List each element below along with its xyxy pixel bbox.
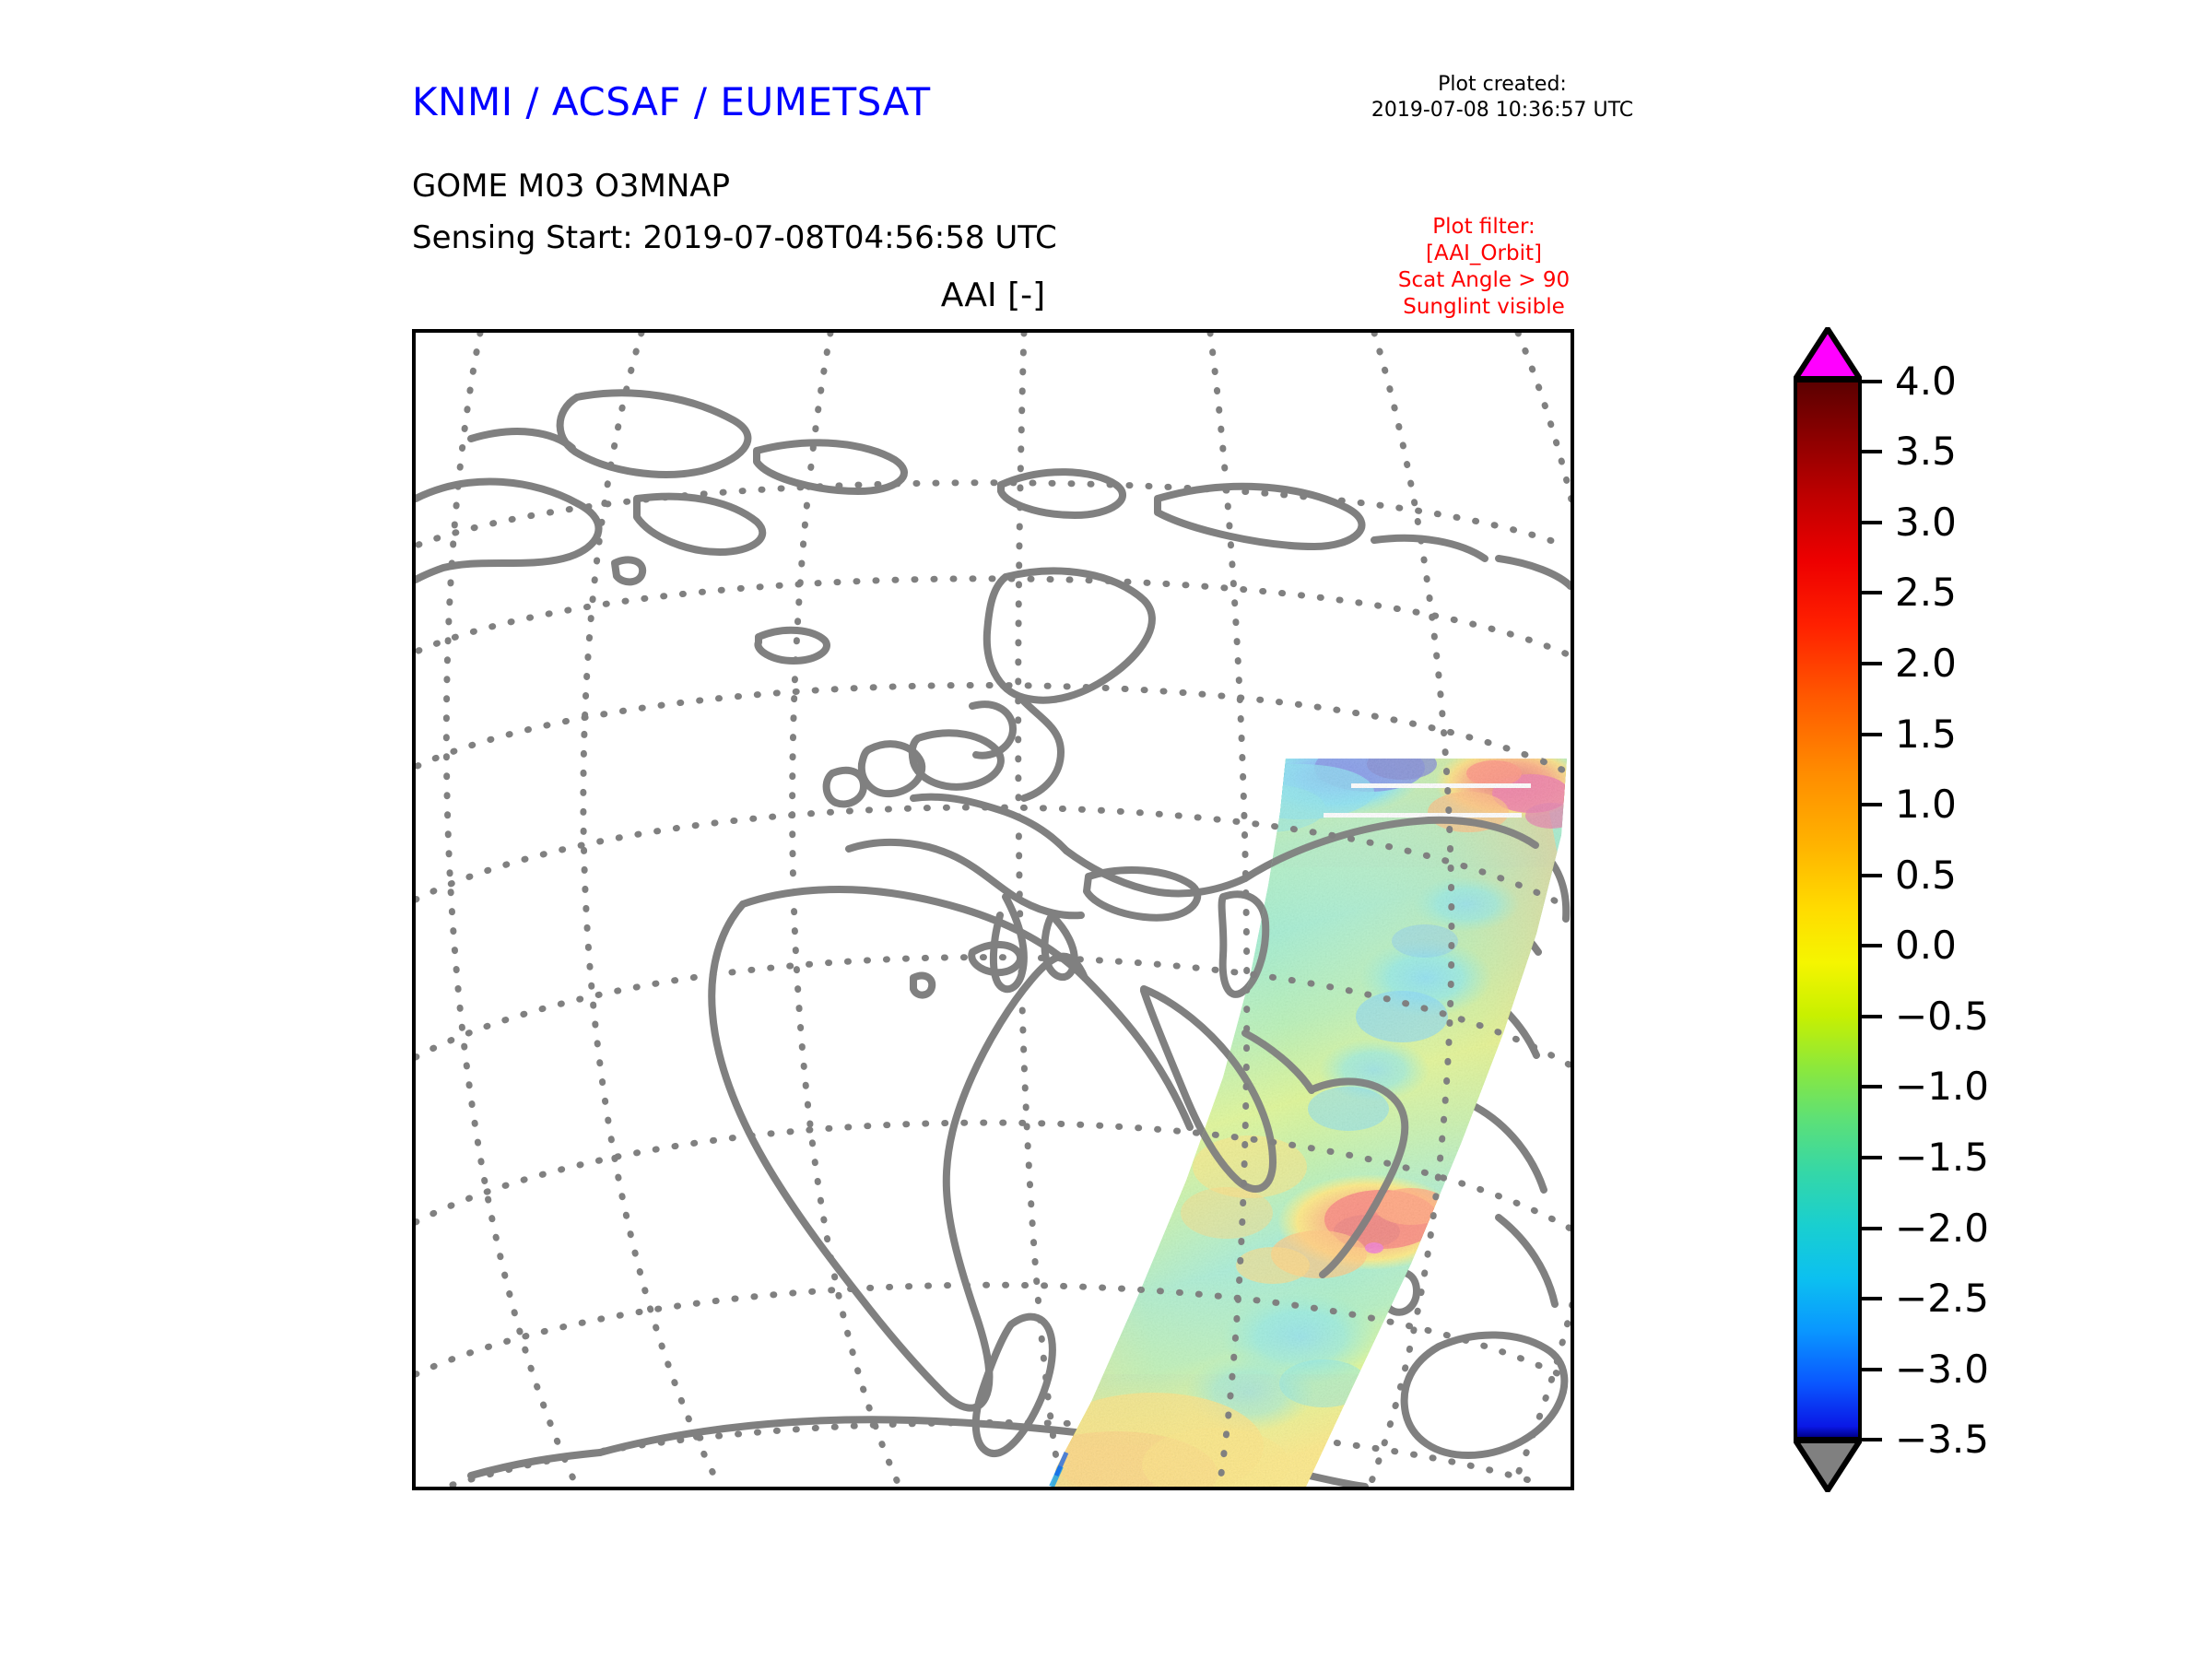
colorbar-label: 3.0 [1895, 503, 1957, 542]
organisation-title: KNMI / ACSAF / EUMETSAT [412, 79, 931, 124]
plot-created-label: Plot created: [1327, 72, 1677, 98]
colorbar-tick [1862, 1085, 1882, 1088]
chart-title: AAI [-] [412, 276, 1574, 314]
colorbar-tick [1862, 591, 1882, 594]
colorbar-label: 1.5 [1895, 715, 1957, 754]
colorbar-tick [1862, 733, 1882, 736]
map-canvas [416, 333, 1571, 1487]
colorbar-tick [1862, 662, 1882, 665]
colorbar-label: 3.5 [1895, 432, 1957, 471]
colorbar-label: −1.0 [1895, 1067, 1989, 1106]
plot-filter-label: Plot filter: [1364, 214, 1604, 241]
colorbar-tick [1862, 944, 1882, 947]
plot-created-block: Plot created: 2019-07-08 10:36:57 UTC [1327, 72, 1677, 124]
colorbar-label: −0.5 [1895, 997, 1989, 1036]
colorbar-label: −2.5 [1895, 1279, 1989, 1318]
colorbar-label: 4.0 [1895, 362, 1957, 401]
colorbar: 4.0 3.5 3.0 2.5 2.0 1.5 1.0 0.5 0.0 −0.5… [1794, 327, 2190, 1502]
colorbar-gradient [1794, 379, 1862, 1441]
plot-created-timestamp: 2019-07-08 10:36:57 UTC [1327, 98, 1677, 124]
plot-filter-name: [AAI_Orbit] [1364, 241, 1604, 267]
colorbar-label: 0.5 [1895, 856, 1957, 895]
colorbar-tick [1862, 803, 1882, 806]
colorbar-tick [1862, 1015, 1882, 1018]
colorbar-label: 0.0 [1895, 926, 1957, 965]
colorbar-tick [1862, 1227, 1882, 1230]
colorbar-tick [1862, 1156, 1882, 1159]
map-plot-area [412, 329, 1574, 1490]
colorbar-over-range-arrow [1794, 327, 1862, 381]
colorbar-label: 2.0 [1895, 644, 1957, 683]
sensing-start-label: Sensing Start: 2019-07-08T04:56:58 UTC [412, 219, 1057, 256]
colorbar-label: −3.0 [1895, 1350, 1989, 1389]
colorbar-label: 1.0 [1895, 785, 1957, 824]
product-title: GOME M03 O3MNAP [412, 168, 730, 205]
colorbar-tick [1862, 1368, 1882, 1371]
colorbar-label: 2.5 [1895, 573, 1957, 612]
colorbar-tick [1862, 450, 1882, 453]
colorbar-label: −3.5 [1895, 1420, 1989, 1459]
colorbar-label: −2.0 [1895, 1209, 1989, 1248]
colorbar-tick [1862, 1438, 1882, 1441]
colorbar-tick [1862, 1297, 1882, 1300]
colorbar-under-range-arrow [1794, 1439, 1862, 1492]
colorbar-tick [1862, 380, 1882, 383]
colorbar-tick [1862, 521, 1882, 524]
colorbar-label: −1.5 [1895, 1138, 1989, 1177]
colorbar-tick [1862, 874, 1882, 877]
